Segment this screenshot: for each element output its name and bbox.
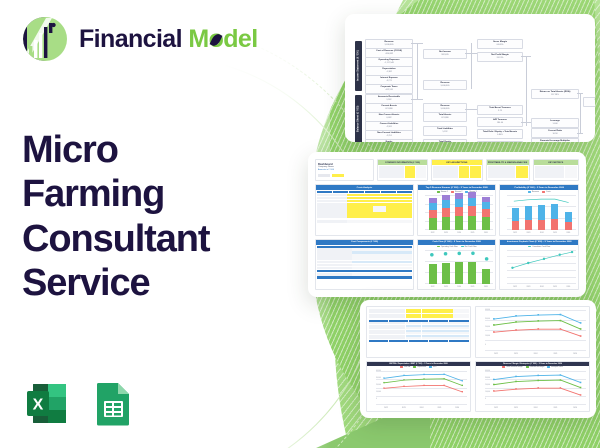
chart-plot-area: 40,000 30,000 20,000 10,000 0 2022 2023 … <box>485 371 586 406</box>
bar-group <box>468 192 476 229</box>
bar-group <box>429 198 437 230</box>
dashboard-grid: Dashboard Company Name Amounts in € '000… <box>315 159 579 290</box>
tree-node: Net Income982,635 <box>423 49 467 59</box>
file-format-icons: X <box>22 378 138 429</box>
tree-band-balance-sheet: Balance Sheet (€ '000) <box>355 95 362 142</box>
cash-flow-chart-panel: Cash Flow (€ '000) – 5 Years to December… <box>417 239 497 291</box>
ebitda-trend-chart: EBITDA / Depreciation / EBIT (€ '000) – … <box>366 361 471 413</box>
logo-wordmark: Financial Model <box>79 25 258 54</box>
title-line-3: Consultant <box>22 217 272 261</box>
chart-plot-area: 2022 2023 2024 2025 2026 <box>507 195 576 230</box>
tree-node: Shareholder's Equity99.16% <box>477 141 523 142</box>
google-sheets-icon[interactable] <box>87 378 138 429</box>
bar-group <box>455 193 463 230</box>
brand-logo: Financial Model <box>22 16 258 62</box>
title-line-1: Micro <box>22 128 272 172</box>
tree-node: Return on Equity (ROE)157.71% <box>583 97 595 107</box>
dashboard-top-row: Dashboard Company Name Amounts in € '000… <box>315 159 579 181</box>
tree-band-income-statement: Income Statement (€ '000) <box>355 41 362 91</box>
chart-plot-area: 2022 2023 2024 2025 2026 <box>425 195 494 230</box>
svg-text:X: X <box>33 397 44 414</box>
margin-trend-line <box>507 195 575 216</box>
gross-margin-trend-chart: 40,000 30,000 20,000 10,000 0 2022 2023 … <box>475 306 590 358</box>
title-line-4: Service <box>22 261 272 305</box>
tree-node: Corporate Taxes-412,531 <box>365 84 413 94</box>
ratio-tree-diagram: Income Statement (€ '000) Balance Sheet … <box>355 23 587 134</box>
net-cash-flow-line <box>425 250 493 271</box>
chart-plot-area: 40,000 30,000 20,000 10,000 0 2022 2023 … <box>376 371 467 406</box>
tree-node: Net Profit Margin26.13% <box>477 52 523 62</box>
payback-series <box>507 250 575 271</box>
statements-bottom-row: EBITDA / Depreciation / EBIT (€ '000) – … <box>366 361 590 413</box>
tree-node: Total Asset Turnover5.25 <box>477 105 523 115</box>
trend-series <box>376 371 467 398</box>
title-line-2: Farming <box>22 172 272 216</box>
profitability-ratios-panel: PROFITABILITY & MARGIN ANALYSIS <box>486 159 530 181</box>
dashboard-bottom-row: Cost Components (€ '000) <box>315 239 579 291</box>
logo-word-model-m: M <box>188 25 208 53</box>
logo-word-model-del: del <box>223 25 257 53</box>
profitability-chart-panel: Profitability (€ '000) – 5 Years to Dece… <box>499 184 579 236</box>
tree-node: Financial Leverage Multiplier99.16 <box>531 138 579 142</box>
financial-summary-table <box>366 306 471 358</box>
tree-node: A/R Turnover184.04 <box>477 117 523 127</box>
statements-grid: 40,000 30,000 20,000 10,000 0 2022 2023 … <box>366 306 590 412</box>
screenshot-card-statements[interactable]: 40,000 30,000 20,000 10,000 0 2022 2023 … <box>360 300 596 418</box>
tree-node: Total Debt / Equity + Total Assets0.84% <box>477 129 523 139</box>
statements-top-row: 40,000 30,000 20,000 10,000 0 2022 2023 … <box>366 306 590 358</box>
financial-summary-trend-chart: Revenue / Margin / Enterprise (€ '000) –… <box>475 361 590 413</box>
chart-plot-area: 2022 2023 2024 2025 2026 <box>425 250 494 285</box>
excel-icon[interactable]: X <box>22 378 73 429</box>
tree-node: Current Ratio16.58 <box>531 128 579 138</box>
tree-node: Total Equity623,035 <box>423 139 467 142</box>
tree-node: Equity623,035 <box>365 139 413 142</box>
tree-node: Gross Margin64.09% <box>477 39 523 49</box>
investment-payback-line-chart: Investment Payback Chart (€ '000) – 5 Ye… <box>499 239 579 291</box>
tree-node: Return on Total Assets (ROA)137.58% <box>531 89 579 99</box>
cost-components-panel: Cost Components (€ '000) <box>315 239 414 291</box>
dashboard-middle-row: Costs Analysis <box>315 184 579 236</box>
screenshot-card-dashboard[interactable]: Dashboard Company Name Amounts in € '000… <box>308 152 586 297</box>
logo-word-financial: Financial <box>79 25 182 53</box>
chart-plot-area: 2022 2023 2024 2025 2026 <box>507 250 576 285</box>
page-title: Micro Farming Consultant Service <box>22 128 272 306</box>
tree-node: Total Liabilities5,232 <box>423 126 467 136</box>
bar-group <box>442 195 450 230</box>
chart-plot-area: 40,000 30,000 20,000 10,000 0 2022 2023 … <box>485 310 586 351</box>
revenue-streams-stacked-bar: Top 5 Revenue Streams (€ '000) – 5 Years… <box>417 184 497 236</box>
screenshot-card-ratio-tree[interactable]: Income Statement (€ '000) Balance Sheet … <box>345 14 595 142</box>
logo-mark-icon <box>22 16 68 62</box>
tree-node: Revenue3,636,805 <box>423 80 467 90</box>
dashboard-title-panel: Dashboard Company Name Amounts in € '000 <box>315 159 374 181</box>
key-assumptions-panel: KEY ASSUMPTIONS <box>431 159 482 181</box>
costs-analysis-panel: Costs Analysis <box>315 184 414 236</box>
bar-group <box>482 197 490 230</box>
tree-node: Total Assets621,886 <box>423 112 467 122</box>
poster-canvas: Financial Model Micro Farming Consultant… <box>0 0 600 448</box>
tree-node: Leverage1.008 <box>531 118 579 128</box>
key-metrics-panel: KEY METRICS <box>533 159 579 181</box>
company-information-panel: COMPANY INFORMATION (€ '000) <box>377 159 428 181</box>
trend-series <box>485 310 586 346</box>
logo-word-model-o: o <box>209 25 224 54</box>
trend-series <box>485 371 586 401</box>
